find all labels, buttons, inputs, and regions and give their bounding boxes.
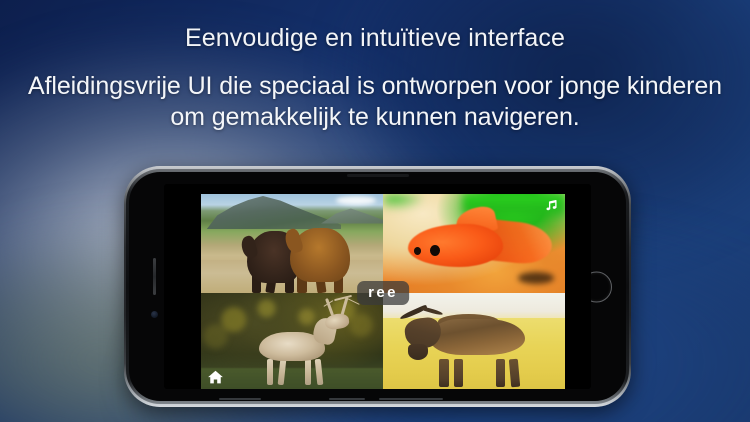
wildebeest-body [430,319,525,354]
speaker-grille [329,398,365,400]
wildebeest-leg [439,359,448,387]
front-camera [151,311,158,318]
word-label-badge: ree [357,281,409,305]
speaker-grille [379,398,443,400]
grass-ground [201,368,383,389]
green-background-blur [383,194,423,210]
app-screen-grid: ree [201,194,565,389]
goldfish-body [408,224,503,267]
background-blur-spot [518,272,554,284]
app-store-promo-screenshot: Eenvoudige en intuïtieve interface Aflei… [0,0,750,422]
phone-device-mockup: ree [124,166,631,407]
speaker-grille [219,398,261,400]
deer-leg [267,359,273,385]
cloud-shape [336,196,376,205]
phone-screen-bezel: ree [164,184,591,389]
music-note-icon[interactable] [544,198,559,213]
deer-leg [305,359,311,385]
grid-tile-deer[interactable] [201,293,383,390]
phone-body: ree [129,172,626,401]
grid-tile-goldfish[interactable] [383,194,565,293]
home-icon[interactable] [207,369,224,385]
grid-tile-wildebeest[interactable] [383,293,565,390]
grid-tile-horses[interactable] [201,194,383,293]
horse-chestnut [290,228,350,282]
earpiece-speaker [347,174,409,177]
mountain-shape [321,207,383,224]
page-subtitle: Afleidingsvrije UI die speciaal is ontwo… [0,71,750,133]
mountain-shape [206,196,341,229]
wildebeest-leg [496,359,505,387]
volume-button[interactable] [153,258,156,295]
wildebeest-leg [454,359,463,387]
promo-text-block: Eenvoudige en intuïtieve interface Aflei… [0,22,750,133]
page-title: Eenvoudige en intuïtieve interface [0,22,750,54]
